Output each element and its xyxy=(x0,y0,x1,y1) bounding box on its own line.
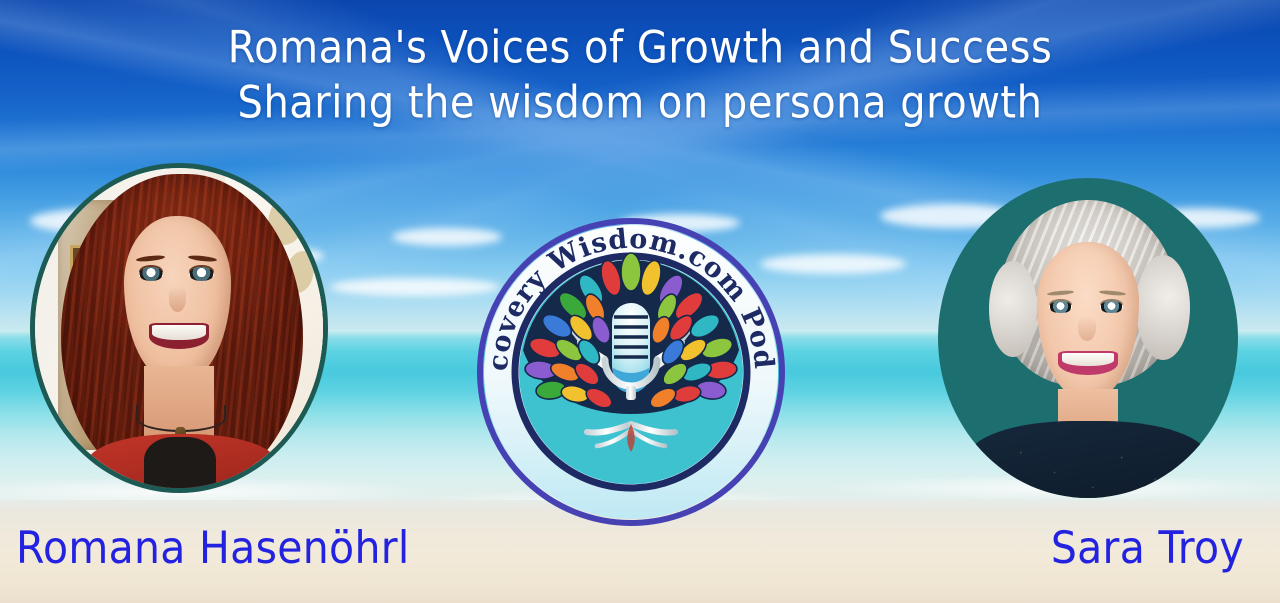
avatar-sara-image xyxy=(938,178,1238,498)
banner-titles: Romana's Voices of Growth and Success Sh… xyxy=(0,22,1280,132)
guest-name-right: Sara Troy xyxy=(1051,522,1244,574)
avatar-sara[interactable] xyxy=(938,178,1238,498)
podcast-banner: Romana's Voices of Growth and Success Sh… xyxy=(0,0,1280,603)
avatar-romana[interactable] xyxy=(30,163,328,493)
guest-name-left: Romana Hasenöhrl xyxy=(16,522,410,574)
avatar-romana-image xyxy=(35,168,323,488)
podcast-logo[interactable]: Self Discovery Wisdom.com Podcast T.V xyxy=(477,218,785,526)
page-title: Romana's Voices of Growth and Success xyxy=(0,19,1280,77)
page-subtitle: Sharing the wisdom on persona growth xyxy=(0,71,1280,136)
